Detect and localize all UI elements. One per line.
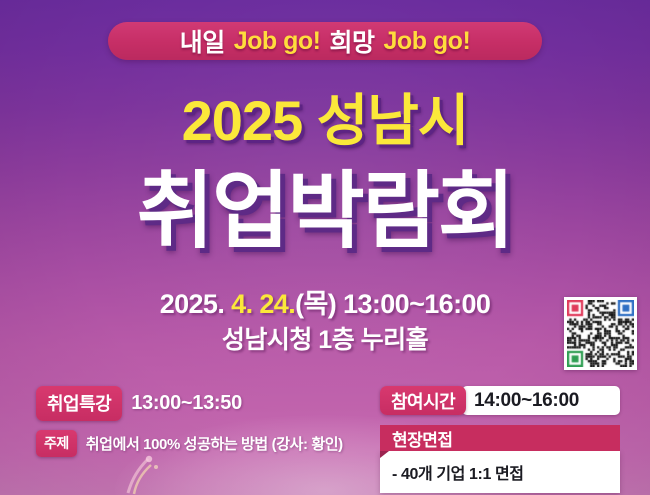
special-lecture-row: 취업특강 13:00~13:50	[36, 386, 366, 421]
participation-time-badge: 참여시간	[380, 386, 466, 415]
lecture-subject-row: 주제 취업에서 100% 성공하는 방법 (강사: 황인)	[36, 430, 366, 457]
date-part-year: 2025.	[160, 289, 231, 319]
participation-time-row: 14:00~16:00 참여시간	[380, 386, 620, 415]
qr-code[interactable]	[564, 297, 637, 370]
job-fair-poster: 내일 Job go! 희망 Job go! 2025 성남시 취업박람회 202…	[0, 0, 650, 495]
subject-text: 취업에서 100% 성공하는 방법 (강사: 황인)	[86, 433, 343, 454]
date-part-time: (목) 13:00~16:00	[295, 289, 490, 319]
left-info-block: 취업특강 13:00~13:50 주제 취업에서 100% 성공하는 방법 (강…	[36, 386, 366, 466]
onsite-interview-detail: - 40개 기업 1:1 면접	[392, 460, 524, 484]
title-line-2: 취업박람회	[0, 144, 650, 265]
participation-time-value: 14:00~16:00	[474, 390, 579, 412]
right-info-block: 14:00~16:00 참여시간 현장면접 - 40개 기업 1:1 면접	[380, 386, 620, 493]
qr-code-canvas	[567, 300, 634, 367]
date-part-day: 4. 24.	[231, 289, 295, 319]
subject-badge: 주제	[36, 430, 77, 457]
special-lecture-badge: 취업특강	[36, 386, 122, 421]
slogan-banner: 내일 Job go! 희망 Job go!	[108, 22, 542, 60]
slogan-part-2: Job go!	[234, 27, 321, 56]
onsite-interview-title: 현장면접	[392, 426, 453, 451]
venue-line: 성남시청 1층 누리홀	[0, 320, 650, 356]
participation-time-value-box: 14:00~16:00	[462, 386, 620, 415]
slogan-part-4: Job go!	[384, 27, 471, 56]
onsite-interview-header: 현장면접	[380, 425, 620, 451]
slogan-part-3: 희망	[330, 23, 375, 59]
date-line: 2025. 4. 24.(목) 13:00~16:00	[0, 282, 650, 321]
onsite-interview-body: - 40개 기업 1:1 면접	[380, 451, 620, 493]
special-lecture-time: 13:00~13:50	[131, 392, 242, 415]
onsite-interview-panel: 현장면접 - 40개 기업 1:1 면접	[380, 425, 620, 493]
slogan-part-1: 내일	[180, 23, 225, 59]
